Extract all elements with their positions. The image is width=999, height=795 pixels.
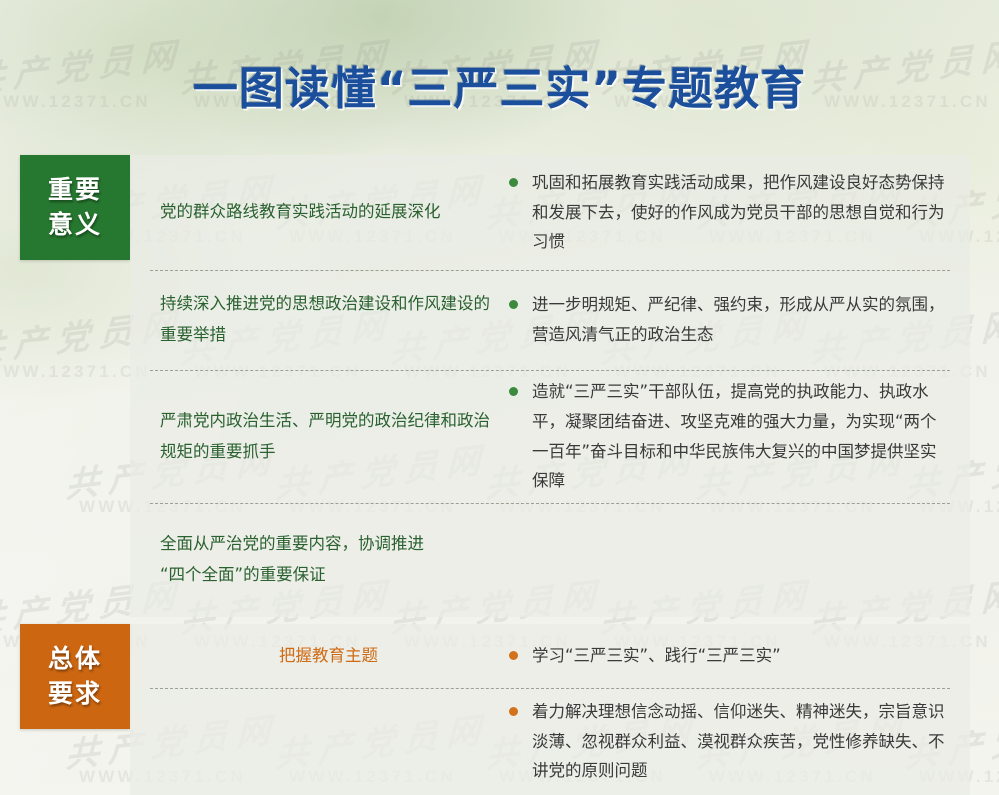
table-row[interactable]: 严肃党内政治生活、严明党的政治纪律和政治规矩的重要抓手 造就“三严三实”干部队伍… (130, 370, 970, 503)
row-right-text: 学习“三严三实”、践行“三严三实” (532, 641, 781, 671)
section-tag-importance: 重要 意义 (20, 155, 130, 260)
row-right-text: 造就“三严三实”干部队伍，提高党的执政能力、执政水平，凝聚团结奋进、攻坚克难的强… (532, 377, 948, 496)
row-right-cell: 着力解决理想信念动摇、信仰迷失、精神迷失，宗旨意识淡薄、忽视群众利益、漠视群众疾… (505, 697, 970, 786)
row-right-text: 巩固和拓展教育实践活动成果，把作风建设良好态势保持和发展下去，使好的作风成为党员… (532, 168, 948, 257)
tag-line-1: 重要 (48, 173, 102, 208)
row-left-text: 把握教育主题 (130, 641, 505, 672)
row-right-cell: 造就“三严三实”干部队伍，提高党的执政能力、执政水平，凝聚团结奋进、攻坚克难的强… (505, 377, 970, 496)
row-right-cell: 进一步明规矩、严纪律、强约束，形成从严从实的氛围，营造风清气正的政治生态 (505, 290, 970, 349)
row-right-cell: 巩固和拓展教育实践活动成果，把作风建设良好态势保持和发展下去，使好的作风成为党员… (505, 168, 970, 257)
bullet-icon (509, 300, 518, 309)
bullet-icon (509, 178, 518, 187)
row-left-text: 全面从严治党的重要内容，协调推进“四个全面”的重要保证 (130, 529, 505, 590)
row-right-cell: 学习“三严三实”、践行“三严三实” (505, 641, 970, 671)
tag-line-2: 意义 (48, 208, 102, 243)
table-row[interactable]: 党的群众路线教育实践活动的延展深化 巩固和拓展教育实践活动成果，把作风建设良好态… (130, 155, 970, 270)
tag-line-2: 要求 (48, 677, 102, 712)
title-bar: 一图读懂“三严三实”专题教育 (0, 52, 999, 117)
bullet-icon (509, 651, 518, 660)
page-title: 一图读懂“三严三实”专题教育 (193, 52, 806, 117)
table-row[interactable]: 持续深入推进党的思想政治建设和作风建设的重要举措 进一步明规矩、严纪律、强约束，… (130, 270, 970, 370)
row-left-text: 党的群众路线教育实践活动的延展深化 (130, 197, 505, 228)
table-row[interactable]: 全面从严治党的重要内容，协调推进“四个全面”的重要保证 (130, 503, 970, 617)
panel-importance: 党的群众路线教育实践活动的延展深化 巩固和拓展教育实践活动成果，把作风建设良好态… (130, 155, 970, 617)
row-left-text: 持续深入推进党的思想政治建设和作风建设的重要举措 (130, 289, 505, 350)
row-right-text: 进一步明规矩、严纪律、强约束，形成从严从实的氛围，营造风清气正的政治生态 (532, 290, 948, 349)
tag-line-1: 总体 (48, 642, 102, 677)
table-row[interactable]: 着力解决理想信念动摇、信仰迷失、精神迷失，宗旨意识淡薄、忽视群众利益、漠视群众疾… (130, 688, 970, 795)
row-right-text: 着力解决理想信念动摇、信仰迷失、精神迷失，宗旨意识淡薄、忽视群众利益、漠视群众疾… (532, 697, 948, 786)
row-left-text: 严肃党内政治生活、严明党的政治纪律和政治规矩的重要抓手 (130, 406, 505, 467)
bullet-icon (509, 707, 518, 716)
panel-overall: 把握教育主题 学习“三严三实”、践行“三严三实” 着力解决理想信念动摇、信仰迷失… (130, 624, 970, 795)
section-tag-overall: 总体 要求 (20, 624, 130, 729)
table-row[interactable]: 把握教育主题 学习“三严三实”、践行“三严三实” (130, 624, 970, 688)
bullet-icon (509, 387, 518, 396)
